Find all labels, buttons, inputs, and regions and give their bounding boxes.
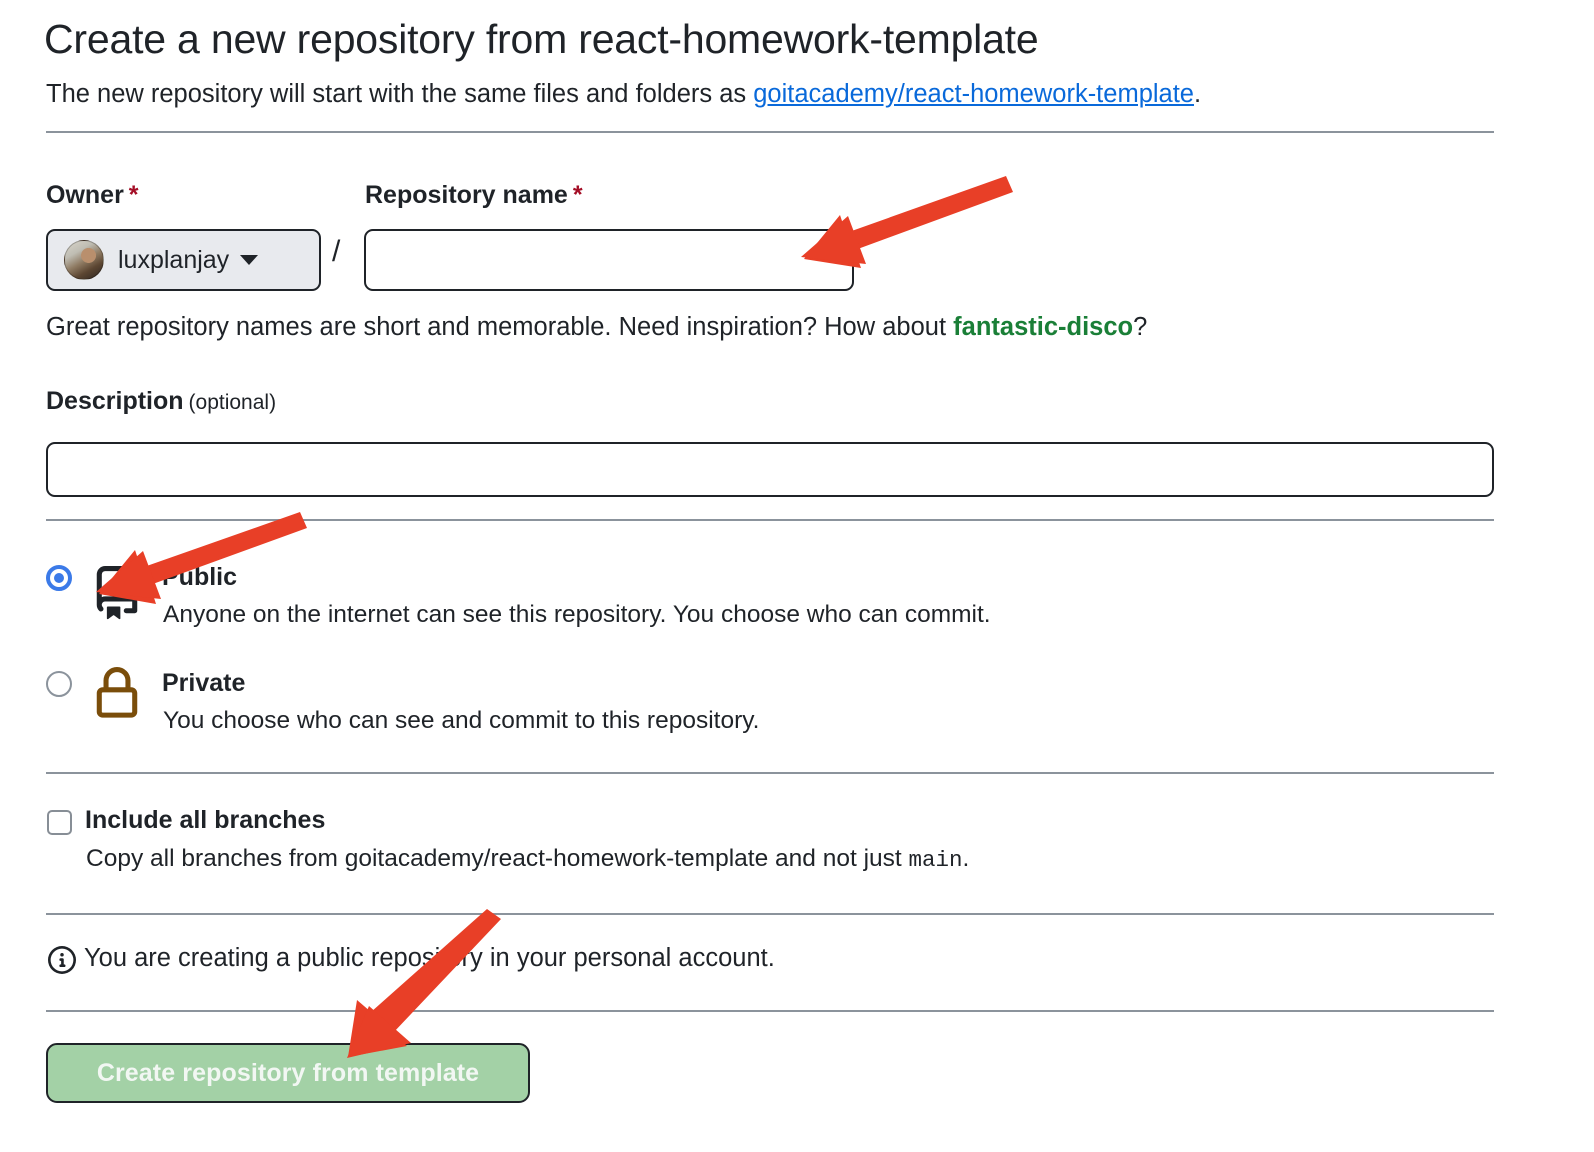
repository-name-required-marker: * <box>573 181 583 209</box>
annotation-arrows <box>0 0 1594 1152</box>
subtitle-prefix: The new repository will start with the s… <box>46 80 753 108</box>
description-label-text: Description <box>46 387 184 415</box>
create-repository-button[interactable]: Create repository from template <box>46 1043 530 1103</box>
subtitle-suffix: . <box>1194 80 1201 108</box>
repository-name-hint: Great repository names are short and mem… <box>46 313 1147 342</box>
visibility-private-radio[interactable] <box>46 671 72 697</box>
visibility-private-description: You choose who can see and commit to thi… <box>163 707 760 735</box>
owner-required-marker: * <box>129 181 139 209</box>
page-title: Create a new repository from react-homew… <box>44 16 1038 63</box>
owner-name: luxplanjay <box>118 246 229 275</box>
hint-suffix: ? <box>1133 313 1147 341</box>
repository-name-label-text: Repository name <box>365 181 568 209</box>
visibility-private-title[interactable]: Private <box>162 669 245 698</box>
divider-submit <box>46 1010 1494 1012</box>
description-input[interactable] <box>46 442 1494 497</box>
info-icon <box>48 946 76 979</box>
hint-prefix: Great repository names are short and mem… <box>46 313 953 341</box>
visibility-public-title[interactable]: Public <box>162 563 237 592</box>
repo-icon <box>90 565 144 626</box>
repository-name-input[interactable] <box>364 229 854 291</box>
avatar <box>64 240 104 280</box>
arrow-to-create-button <box>347 909 501 1058</box>
lock-icon <box>90 666 144 727</box>
create-repository-page: Create a new repository from react-homew… <box>0 0 1594 1152</box>
chevron-down-icon <box>240 255 258 265</box>
branches-description-prefix: Copy all branches from goitacademy/react… <box>86 845 909 872</box>
owner-select-button[interactable]: luxplanjay <box>46 229 321 291</box>
include-all-branches-checkbox[interactable] <box>47 810 72 835</box>
description-label: Description(optional) <box>46 387 276 416</box>
template-repo-link[interactable]: goitacademy/react-homework-template <box>753 80 1194 108</box>
owner-label: Owner* <box>46 181 139 210</box>
description-optional-note: (optional) <box>189 391 277 414</box>
include-all-branches-label[interactable]: Include all branches <box>85 806 325 835</box>
divider-notice <box>46 913 1494 915</box>
owner-repo-separator: / <box>332 235 340 269</box>
include-all-branches-description: Copy all branches from goitacademy/react… <box>86 845 969 873</box>
divider-header <box>46 131 1494 133</box>
repository-name-suggestion[interactable]: fantastic-disco <box>953 313 1133 341</box>
owner-label-text: Owner <box>46 181 124 209</box>
notice-text: You are creating a public repository in … <box>84 944 775 973</box>
divider-branches <box>46 772 1494 774</box>
page-subtitle: The new repository will start with the s… <box>46 80 1201 109</box>
repository-name-label: Repository name* <box>365 181 583 210</box>
default-branch-name: main <box>909 847 963 873</box>
visibility-public-description: Anyone on the internet can see this repo… <box>163 601 991 629</box>
divider-visibility <box>46 519 1494 521</box>
branches-description-suffix: . <box>963 845 970 872</box>
visibility-public-radio[interactable] <box>46 565 72 591</box>
